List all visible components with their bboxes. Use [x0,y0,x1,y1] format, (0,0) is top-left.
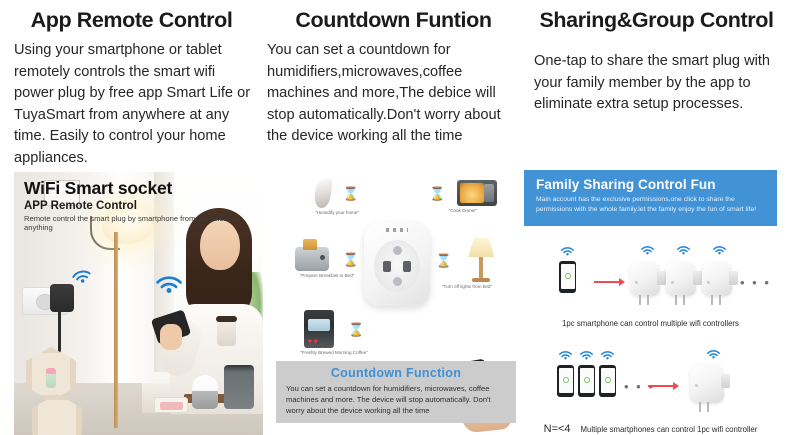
power-button-icon [605,377,611,383]
hourglass-icon: ⌛ [436,254,452,267]
panel-family-sharing: Family Sharing Control Fun Main account … [524,170,777,435]
smart-plug [690,365,724,403]
wifi-icon [154,272,184,302]
wifi-icon [579,350,594,363]
panel-app-remote-control-photo: WiFi Smart socket APP Remote Control Rem… [14,172,263,435]
smartphone [557,365,574,397]
feature-column-app-remote-control: App Remote Control Using your smartphone… [0,0,263,170]
column-heading-1: App Remote Control [12,8,251,33]
appliance-label: "Turn off lights from bed" [414,284,520,289]
panel2-caption-title: Countdown Function [286,366,506,380]
panel3-row1-caption: 1pc smartphone can control multiple wifi… [524,319,777,328]
ellipsis: • • • [740,276,771,289]
smart-plug [630,262,660,296]
flow-arrow [648,385,678,387]
plug-prong [699,402,701,412]
panel3-header-banner: Family Sharing Control Fun Main account … [524,170,777,226]
panel-countdown-function: ⌛ "Humidify your home" ⌛ "Cook Dinner" ⌛… [268,172,520,435]
column-heading-2: Countdown Funtion [267,8,520,33]
wifi-icon [600,350,615,363]
appliance-lamp: ⌛ "Turn off lights from bed" [414,238,520,289]
column-body-1: Using your smartphone or tablet remotely… [14,40,251,170]
hourglass-icon: ⌛ [348,323,364,336]
lamp-shade [468,238,494,257]
plug-prong [707,402,709,412]
floor-lamp-pole [114,232,118,428]
panel1-caption-overlay: WiFi Smart socket APP Remote Control Rem… [24,178,256,232]
plug-indicator [707,281,710,284]
toaster-icon [295,247,329,271]
flower-vase [46,368,56,388]
wifi-icon [560,246,575,259]
diagram-many-phones-one-plug: • • • [524,348,777,435]
appliance-label: "Freshly Brewed Morning Coffee" [272,350,396,355]
panel1-title: WiFi Smart socket [24,178,256,199]
wifi-icon [69,265,95,291]
column-body-2: You can set a countdown for humidifiers,… [267,40,520,148]
plug-prong [675,295,677,305]
plug-pin-bottom [393,277,402,286]
feature-column-sharing-group-control: Sharing&Group Control One-tap to share t… [526,0,789,170]
wifi-icon [558,350,573,363]
plug-hole-right [403,261,411,272]
plug-indicator [671,281,674,284]
plug-prong [647,295,649,305]
appliance-humidifier: ⌛ "Humidify your home" [282,178,392,215]
panel1-subtitle: APP Remote Control [24,200,256,212]
snack-tray [154,397,188,413]
panel2-caption-body: You can set a countdown for humidifiers,… [286,383,506,416]
lamp-pole [479,257,483,278]
coffee-machine-icon [304,310,334,348]
plug-indicator [695,384,698,387]
power-button-icon [584,377,590,383]
max-phones-badge: N=<4 [544,423,571,435]
humidifier-icon [313,177,333,209]
appliance-label: "Cook Dinner" [408,208,518,213]
feature-column-countdown-function: Countdown Funtion You can set a countdow… [263,0,526,170]
wifi-icon [706,349,721,362]
hourglass-icon: ⌛ [343,253,359,266]
power-button-icon [565,273,571,279]
smart-plug-black [50,284,74,312]
product-feature-sheet: App Remote Control Using your smartphone… [0,0,790,435]
column-heading-3: Sharing&Group Control [534,8,779,33]
lamp-base [472,278,490,282]
panel1-caption: Remote control the smart plug by smartph… [24,214,256,232]
smart-speaker-dark [224,365,254,409]
lamp-icon [464,238,498,282]
plug-pin-top [393,246,402,255]
panel3-header-subtitle: Main account has the exclusive permissio… [536,195,765,215]
smart-plug [702,262,732,296]
smartphone [559,261,576,293]
plug-prong [719,295,721,305]
appliance-coffee-machine: ⌛ "Freshly Brewed Morning Coffee" [272,310,396,355]
flow-arrow [594,281,624,283]
woman-hand [160,324,182,350]
wifi-icon [712,245,727,258]
smart-speaker-white [192,375,218,409]
appliance-microwave: ⌛ "Cook Dinner" [408,180,518,213]
hourglass-icon: ⌛ [343,187,359,200]
smartphone [599,365,616,397]
plug-prong [639,295,641,305]
wifi-icon [640,245,655,258]
plug-indicator [635,281,638,284]
appliance-label: "Prepare Breakfast in Bed" [268,273,386,278]
plug-prong [683,295,685,305]
panel2-caption-band: Countdown Function You can set a countdo… [276,361,516,423]
wifi-icon [676,245,691,258]
panel3-row2-caption: N=<4Multiple smartphones can control 1pc… [524,423,777,435]
coffee-cup [217,320,236,346]
appliance-toaster: ⌛ "Prepare Breakfast in Bed" [268,247,386,278]
feature-columns: App Remote Control Using your smartphone… [0,0,790,170]
microwave-icon [457,180,497,206]
hourglass-icon: ⌛ [429,187,445,200]
panel3-row2-caption-text: Multiple smartphones can control 1pc wif… [581,425,758,434]
smartphone [578,365,595,397]
appliance-label: "Humidify your home" [282,210,392,215]
column-body-3: One-tap to share the smart plug with you… [534,51,779,116]
smart-plug [666,262,696,296]
panel3-header-title: Family Sharing Control Fun [536,177,765,192]
power-button-icon [563,377,569,383]
plug-led-indicators [386,228,408,232]
plug-prong [711,295,713,305]
power-cord [58,310,61,352]
